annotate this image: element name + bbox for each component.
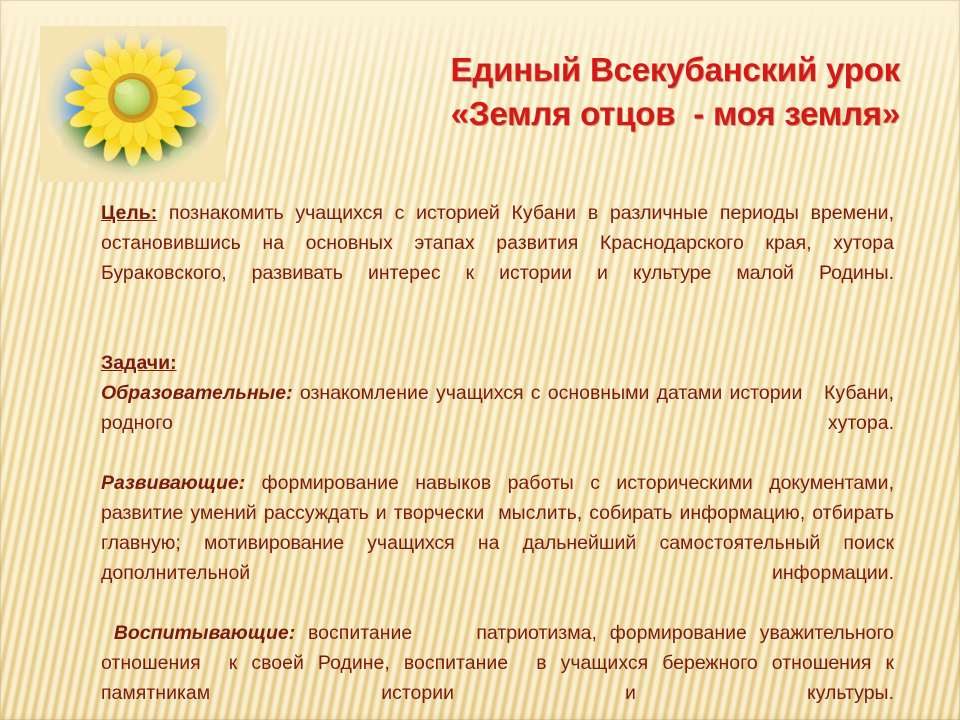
- sunflower-illustration: [40, 26, 226, 182]
- slide-body: Цель: познакомить учащихся с историей Ку…: [101, 198, 894, 720]
- slide-title-line-1: Единый Всекубанский урок: [240, 48, 900, 92]
- slide-title-line-2: «Земля отцов - моя земля»: [240, 92, 900, 136]
- task-label-educational: Образовательные:: [101, 382, 293, 404]
- task-paragraph-educational: Образовательные: ознакомление учащихся с…: [101, 378, 894, 468]
- task-label-developmental: Развивающие:: [101, 472, 245, 494]
- tasks-heading-label: Задачи:: [101, 352, 177, 374]
- goal-paragraph: Цель: познакомить учащихся с историей Ку…: [101, 198, 894, 318]
- task-label-upbringing: Воспитывающие:: [101, 622, 295, 644]
- tasks-heading: Задачи:: [101, 348, 894, 378]
- goal-text: познакомить учащихся с историей Кубани в…: [101, 202, 899, 284]
- task-paragraph-developmental: Развивающие: формирование навыков работы…: [101, 468, 894, 618]
- goal-label: Цель:: [101, 202, 157, 224]
- sunflower-image: [40, 26, 226, 182]
- task-paragraph-upbringing: Воспитывающие: воспитание патриотизма, ф…: [101, 618, 894, 720]
- paragraph-spacer: [101, 318, 894, 348]
- slide-title: Единый Всекубанский урок «Земля отцов - …: [240, 48, 900, 136]
- slide-canvas: Единый Всекубанский урок «Земля отцов - …: [0, 0, 960, 720]
- image-vignette: [40, 26, 226, 182]
